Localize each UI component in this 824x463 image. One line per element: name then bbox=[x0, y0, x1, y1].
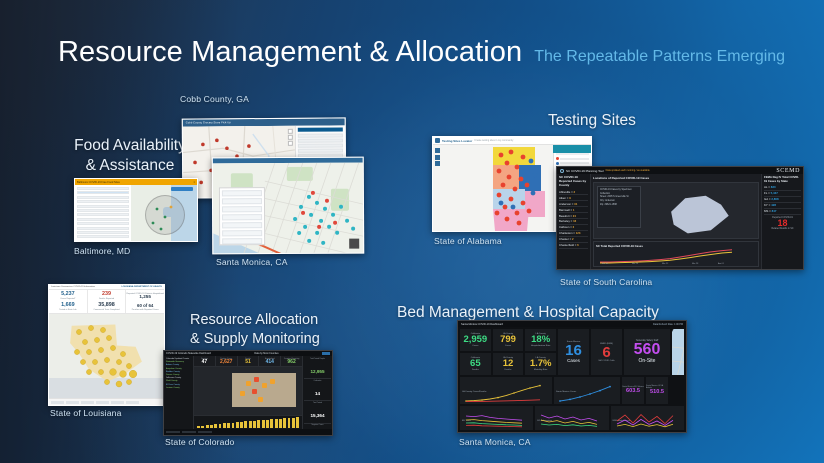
sc-app-subtitle: Data updated each morning / as available bbox=[606, 169, 650, 172]
co-right-kpi-value: 14 bbox=[315, 391, 320, 396]
sm-side-kpi-value: 603.5 bbox=[626, 388, 640, 394]
caption-baltimore: Baltimore, MD bbox=[74, 246, 130, 256]
co-kpi-value: 414 bbox=[266, 360, 274, 365]
alabama-header: Testing Sites Locator Create testing sit… bbox=[433, 137, 591, 145]
slide-canvas: Resource Management & Allocation The Rep… bbox=[0, 0, 824, 463]
la-kpi-cell: 5,237 Cases Reported* bbox=[49, 290, 87, 302]
form-row[interactable] bbox=[77, 227, 129, 230]
la-kpi-value: 1,255 bbox=[139, 295, 151, 300]
title-subtitle: The Repeatable Patterns Emerging bbox=[534, 48, 785, 66]
la-tab[interactable] bbox=[81, 401, 94, 404]
svg-text:Mar 22: Mar 22 bbox=[662, 263, 669, 264]
sm-kpi-value: 18% bbox=[531, 335, 550, 345]
la-org-logo: LOUISIANA DEPARTMENT OF HEALTH bbox=[121, 286, 162, 288]
sm-chart-lines bbox=[558, 384, 616, 402]
caption-santa-monica-bed: Santa Monica, CA bbox=[459, 437, 531, 447]
sc-popup-row: Zip: 29621-1588 bbox=[600, 204, 638, 208]
la-tab[interactable] bbox=[51, 401, 64, 404]
form-row[interactable] bbox=[77, 213, 129, 216]
form-row[interactable] bbox=[77, 231, 129, 234]
cobb-panel-header bbox=[298, 127, 343, 131]
co-hotspot bbox=[270, 379, 275, 384]
sm-staff-caption: On-Site bbox=[639, 358, 656, 364]
sc-county-panel-title: SC COVID-19 Reported Cases by County bbox=[559, 176, 588, 187]
baltimore-map-pins bbox=[131, 185, 197, 242]
caption-santa-monica-food: Santa Monica, CA bbox=[216, 257, 288, 267]
la-kpi-value: 1,669 bbox=[61, 303, 75, 308]
sm-kpi: California 65 Deaths bbox=[460, 353, 491, 375]
la-kpi-cell: 239 Deaths Reported bbox=[88, 290, 126, 302]
baltimore-form-panel[interactable] bbox=[75, 185, 131, 241]
sm-chart-santa-monica[interactable]: Santa Monica Cases bbox=[554, 377, 620, 404]
sm-kpi-caption: Mortality Rate bbox=[534, 369, 548, 371]
caption-south-carolina: State of South Carolina bbox=[560, 277, 652, 287]
la-kpi-label: Parishes with Reported Cases bbox=[132, 309, 159, 311]
cobb-app-title: Cobb County Grocery Store Pick-Up bbox=[186, 121, 231, 124]
sm-bigkpi-value: 16 bbox=[565, 343, 582, 358]
la-kpi-cases: 5,237 Cases Reported* 1,669 Tested at St… bbox=[49, 290, 88, 313]
baltimore-app-title: Baltimore COVID-19 Free Food Sites bbox=[77, 181, 120, 184]
sm-side-kpi-value: 510.5 bbox=[650, 389, 664, 395]
co-tab[interactable] bbox=[182, 431, 196, 434]
baltimore-map[interactable] bbox=[131, 185, 197, 241]
sc-map-title: Locations of Reported COVID-19 Cases bbox=[593, 176, 759, 180]
baltimore-body bbox=[75, 185, 197, 241]
co-hotspot bbox=[258, 397, 263, 402]
close-icon[interactable]: × bbox=[193, 181, 195, 184]
co-kpi-value: 47 bbox=[202, 360, 208, 365]
svg-text:Mar 06: Mar 06 bbox=[602, 263, 609, 264]
sm-map-roads bbox=[672, 333, 684, 375]
sm-kpi-caption: Deaths bbox=[472, 369, 479, 371]
la-kpi-row: 5,237 Cases Reported* 1,669 Tested at St… bbox=[49, 290, 164, 314]
sm-staff-value: 560 bbox=[634, 342, 661, 358]
sm-kpi-value: 1.7% bbox=[530, 359, 552, 369]
sc-map[interactable]: COVID-19 Cases by Specimen Collection St… bbox=[593, 182, 759, 239]
sm-chart-lines bbox=[464, 384, 548, 402]
la-kpi-value: 60 of 64 bbox=[137, 304, 153, 308]
sm-side-kpis: Santa Monica ED Volume 603.5 Santa Monic… bbox=[622, 377, 668, 404]
co-map[interactable] bbox=[194, 367, 302, 415]
la-kpi-cell: Reported COVID-19 Patients Hospitalized … bbox=[126, 290, 164, 302]
svg-text:Apr 01: Apr 01 bbox=[718, 262, 725, 264]
form-row[interactable] bbox=[77, 196, 129, 199]
co-kpi: Counties 47 bbox=[194, 356, 216, 366]
svg-text:Mar 14: Mar 14 bbox=[632, 263, 639, 264]
form-row[interactable] bbox=[77, 200, 129, 203]
co-right-kpi: Total Tested 15,364 bbox=[304, 401, 331, 423]
la-kpi-hospitalized: Reported COVID-19 Patients Hospitalized … bbox=[126, 290, 164, 313]
la-kpi-value: 239 bbox=[102, 292, 111, 297]
sc-titlebar-left: SC COVID-19 Planning Tool Data updated e… bbox=[560, 169, 650, 173]
la-kpi-label: Deaths Reported bbox=[99, 298, 114, 300]
thumbnail-colorado[interactable]: COVID-19 Colorado Statewide Dashboard Da… bbox=[163, 350, 333, 436]
co-kpi-row: Counties 47 Positive Cases 2,627 Deaths … bbox=[194, 356, 302, 367]
cobb-panel-row[interactable] bbox=[298, 139, 343, 143]
sm-kpi: LA County 12 Deaths bbox=[493, 353, 524, 375]
la-kpi-value: 5,237 bbox=[61, 292, 75, 297]
thumbnail-south-carolina[interactable]: SC COVID-19 Planning Tool Data updated e… bbox=[556, 166, 804, 270]
sm-side-kpi: Santa Monica UCLA Admits 510.5 bbox=[646, 377, 668, 404]
caption-louisiana: State of Louisiana bbox=[50, 408, 122, 418]
co-right-kpi-label: Total Tested People bbox=[304, 358, 331, 360]
sm-kpi-caption: Cases bbox=[505, 345, 511, 347]
sc-county-panel[interactable]: SC COVID-19 Reported Cases by County Abb… bbox=[557, 174, 591, 269]
sc-body: SC COVID-19 Reported Cases by County Abb… bbox=[557, 174, 803, 269]
la-kpi-cell: 35,898 Commercial Tests Completed bbox=[88, 302, 126, 314]
sm-kpi-value: 2,959 bbox=[463, 335, 487, 345]
form-row[interactable] bbox=[77, 187, 129, 190]
co-hotspot bbox=[240, 391, 245, 396]
la-tab[interactable] bbox=[111, 401, 124, 404]
caption-alabama: State of Alabama bbox=[434, 236, 502, 246]
co-updated: Data by Most Counties bbox=[254, 352, 278, 355]
sm-kpi-value: 799 bbox=[500, 335, 516, 345]
smfood-legend-item[interactable] bbox=[222, 206, 262, 212]
la-tab[interactable] bbox=[96, 401, 109, 404]
sm-chart-lines bbox=[539, 412, 601, 428]
la-tab[interactable] bbox=[126, 401, 139, 404]
form-row[interactable] bbox=[77, 235, 129, 238]
alabama-legend-item[interactable] bbox=[556, 157, 589, 160]
sm-kpi-grid: California 2,959 Cases LA County 799 Cas… bbox=[460, 329, 556, 375]
co-right-kpi-value: 12,955 bbox=[310, 369, 324, 374]
caption-colorado: State of Colorado bbox=[165, 437, 234, 447]
sm-app-title: Santa Monica COVID-19 Dashboard bbox=[461, 323, 503, 326]
sm-kpi: LA County 1.7% Mortality Rate bbox=[525, 353, 556, 375]
co-state-shape bbox=[232, 373, 296, 407]
sm-bigkpi-value: 6 bbox=[602, 345, 610, 360]
alabama-state-map bbox=[449, 145, 553, 232]
section-label-resource-allocation: Resource Allocation & Supply Monitoring bbox=[190, 311, 320, 348]
co-hotspot bbox=[254, 377, 259, 382]
la-kpi-cell: 1,669 Tested at State Lab bbox=[49, 302, 87, 314]
alabama-map[interactable] bbox=[433, 145, 553, 231]
alabama-legend-item[interactable] bbox=[556, 162, 589, 165]
sm-kpi: LA County 18% Hospitalization Rate bbox=[525, 329, 556, 351]
cobb-panel-row[interactable] bbox=[298, 133, 343, 137]
smfood-legend-title bbox=[222, 190, 262, 196]
form-row[interactable] bbox=[77, 222, 129, 225]
la-kpi-value: 35,898 bbox=[98, 303, 115, 308]
sm-bigkpi-santa-monica: Santa Monica 16 Cases bbox=[558, 329, 589, 375]
sc-state-row: MS = 847 bbox=[764, 209, 801, 215]
caption-cobb-county: Cobb County, GA bbox=[180, 94, 249, 104]
sc-trend-chart[interactable]: SC Total Reported COVID-19 Cases Mar 06M… bbox=[593, 241, 759, 267]
thumbnail-santa-monica-bed[interactable]: Santa Monica COVID-19 Dashboard Data Ref… bbox=[457, 320, 687, 433]
sm-kpi-caption: Cases bbox=[472, 345, 478, 347]
form-row-slider[interactable] bbox=[77, 191, 129, 194]
co-kpi: Positive Cases 2,627 bbox=[216, 356, 238, 366]
co-bar-chart[interactable] bbox=[194, 415, 302, 429]
sc-map-column: Locations of Reported COVID-19 Cases COV… bbox=[591, 174, 761, 269]
cobb-panel-row[interactable] bbox=[298, 144, 343, 148]
form-row[interactable] bbox=[77, 205, 129, 208]
cobb-panel-row[interactable] bbox=[298, 149, 343, 153]
section-label-food: Food Availability & Assistance bbox=[70, 136, 190, 176]
sm-bigkpi-caption: SM COVID Calls bbox=[598, 360, 614, 362]
alabama-app-title: Testing Sites Locator bbox=[442, 139, 472, 143]
sm-chart-lines bbox=[464, 412, 526, 428]
sm-chart-ed-visits[interactable]: ED Visits bbox=[460, 406, 533, 430]
co-sidebar-row: Larimer County bbox=[166, 387, 191, 390]
smfood-map[interactable] bbox=[213, 163, 363, 254]
la-app-title: Louisiana Coronavirus COVID-19 Informati… bbox=[51, 286, 95, 288]
co-right-kpi-label: Negative Cases bbox=[304, 424, 331, 426]
sm-kpi: LA County 799 Cases bbox=[493, 329, 524, 351]
sc-deaths-sub: Related Deaths in SC bbox=[764, 228, 801, 230]
sc-app-title: SC COVID-19 Planning Tool bbox=[566, 169, 604, 173]
la-parish-markers bbox=[49, 314, 165, 398]
svg-text:Mar 28: Mar 28 bbox=[692, 263, 699, 264]
co-hotspot bbox=[262, 383, 267, 388]
smfood-legend-item[interactable] bbox=[222, 214, 262, 220]
la-kpi-label: Tested at State Lab bbox=[59, 309, 76, 311]
globe-icon bbox=[560, 169, 564, 173]
sm-kpi-value: 12 bbox=[503, 359, 514, 369]
sm-kpi-row: California 2,959 Cases LA County 799 Cas… bbox=[460, 329, 684, 375]
la-map[interactable] bbox=[49, 314, 164, 398]
co-hotspot bbox=[252, 389, 257, 394]
sm-kpi: California 2,959 Cases bbox=[460, 329, 491, 351]
co-center: Counties 47 Positive Cases 2,627 Deaths … bbox=[194, 356, 302, 429]
sm-staff-kpi: Yesterday Safety Staff 560 On-Site bbox=[624, 329, 670, 375]
sm-chart-ems-ambulances[interactable]: EMS Ambulances bbox=[611, 406, 684, 430]
smfood-legend-item[interactable] bbox=[222, 198, 262, 204]
la-kpi-label: Cases Reported* bbox=[60, 298, 75, 300]
sc-deaths-kpi: Reported COVID-19 18 Related Deaths in S… bbox=[764, 217, 801, 230]
la-tab[interactable] bbox=[66, 401, 79, 404]
cobb-map-tools[interactable] bbox=[288, 129, 293, 147]
sm-chart-ed-admissions[interactable]: ED Admissions bbox=[535, 406, 608, 430]
sm-bigkpi-caption: Cases bbox=[567, 358, 580, 363]
form-row[interactable] bbox=[77, 209, 129, 212]
co-right-kpi-value: 15,364 bbox=[310, 413, 324, 418]
co-body: Colorado Updated Counts Statewide Summar… bbox=[164, 356, 332, 429]
co-kpi-value: 2,627 bbox=[220, 360, 233, 365]
co-window-button[interactable] bbox=[322, 352, 330, 355]
la-kpi-label: Commercial Tests Completed bbox=[93, 309, 119, 311]
sm-map[interactable]: Westside Cases bbox=[672, 329, 684, 375]
smfood-legend-item[interactable] bbox=[222, 222, 262, 228]
la-tabbar[interactable] bbox=[49, 398, 164, 405]
sm-kpi-caption: Deaths bbox=[505, 369, 512, 371]
co-tab[interactable] bbox=[198, 431, 212, 434]
co-sidebar[interactable]: Colorado Updated Counts Statewide Summar… bbox=[164, 356, 194, 429]
shield-icon bbox=[435, 138, 440, 143]
co-kpi: Hospitalized 414 bbox=[259, 356, 281, 366]
smfood-legend-item[interactable] bbox=[222, 238, 262, 244]
sc-map-popup[interactable]: COVID-19 Cases by Specimen Collection St… bbox=[597, 186, 641, 228]
section-label-testing: Testing Sites bbox=[548, 111, 636, 131]
page-title: Resource Management & Allocation The Rep… bbox=[58, 36, 785, 69]
co-right-kpi: Total Tested People 12,955 bbox=[304, 357, 331, 379]
sm-mid-row: LA County Cases/Deaths Santa Monica Case… bbox=[460, 377, 684, 404]
sm-chart-lines bbox=[615, 412, 677, 428]
co-kpi: Counties Reporting 962 bbox=[281, 356, 302, 366]
sc-fema-panel: FEMA Reg IV Total COVID-19 Cases by Stat… bbox=[761, 174, 803, 269]
sc-county-row: Chesterfield = 6 bbox=[559, 243, 588, 249]
alabama-toolbar[interactable] bbox=[553, 145, 591, 153]
sm-bigkpi-smfd: SMFD (EMS) 6 SM COVID Calls bbox=[591, 329, 622, 375]
co-right-kpi-value: 12,737 bbox=[310, 435, 324, 436]
co-right-kpi: Negative Cases 12,737 bbox=[304, 424, 331, 436]
thumbnail-louisiana[interactable]: Louisiana Coronavirus COVID-19 Informati… bbox=[48, 284, 165, 406]
smfood-legend-panel[interactable] bbox=[219, 187, 265, 245]
smfood-legend-item[interactable] bbox=[222, 230, 262, 236]
sm-kpi-value: 65 bbox=[470, 359, 481, 369]
thumbnail-santa-monica-food[interactable] bbox=[212, 157, 365, 255]
sm-chart-la-county[interactable]: LA County Cases/Deaths bbox=[460, 377, 552, 404]
sm-kpi-caption: Hospitalization Rate bbox=[531, 345, 550, 347]
sm-side-kpi: Santa Monica ED Volume 603.5 bbox=[622, 377, 644, 404]
co-hotspot bbox=[246, 381, 251, 386]
sm-bottom-row: ED Visits ED Admissions bbox=[460, 406, 684, 430]
sm-updated: Data Refresh Rate: 1:00 PM bbox=[653, 323, 683, 326]
co-tab[interactable] bbox=[166, 431, 180, 434]
sc-state-shape bbox=[666, 195, 730, 235]
sm-body: California 2,959 Cases LA County 799 Cas… bbox=[458, 327, 686, 432]
co-right-kpi: Outbreaks 14 bbox=[304, 379, 331, 401]
co-app-title: COVID-19 Colorado Statewide Dashboard bbox=[166, 352, 211, 355]
sc-chart-lines: Mar 06Mar 14 Mar 22Mar 28Apr 01 bbox=[598, 248, 734, 264]
co-kpi-value: 51 bbox=[245, 360, 251, 365]
co-kpi-value: 962 bbox=[287, 360, 295, 365]
thumbnail-baltimore[interactable]: Baltimore COVID-19 Free Food Sites × bbox=[74, 178, 198, 242]
la-kpi-cell: 60 of 64 Parishes with Reported Cases bbox=[126, 302, 164, 314]
sc-brand: SCEMD bbox=[776, 168, 800, 174]
sc-titlebar: SC COVID-19 Planning Tool Data updated e… bbox=[557, 167, 803, 174]
title-main: Resource Management & Allocation bbox=[58, 36, 522, 69]
sc-fema-title: FEMA Reg IV Total COVID-19 Cases by Stat… bbox=[764, 176, 801, 183]
sc-deaths-value: 18 bbox=[764, 219, 801, 228]
alabama-app-subtitle: Create testing sites in my community bbox=[474, 139, 513, 142]
form-row[interactable] bbox=[77, 218, 129, 221]
alabama-map-tools[interactable] bbox=[435, 148, 440, 168]
co-right-kpi-label: Outbreaks bbox=[304, 380, 331, 382]
co-right-kpis: Total Tested People 12,955 Outbreaks 14 … bbox=[302, 356, 332, 429]
co-kpi: Deaths 51 bbox=[238, 356, 260, 366]
co-right-kpi-label: Total Tested bbox=[304, 402, 331, 404]
la-kpi-deaths: 239 Deaths Reported 35,898 Commercial Te… bbox=[88, 290, 127, 313]
